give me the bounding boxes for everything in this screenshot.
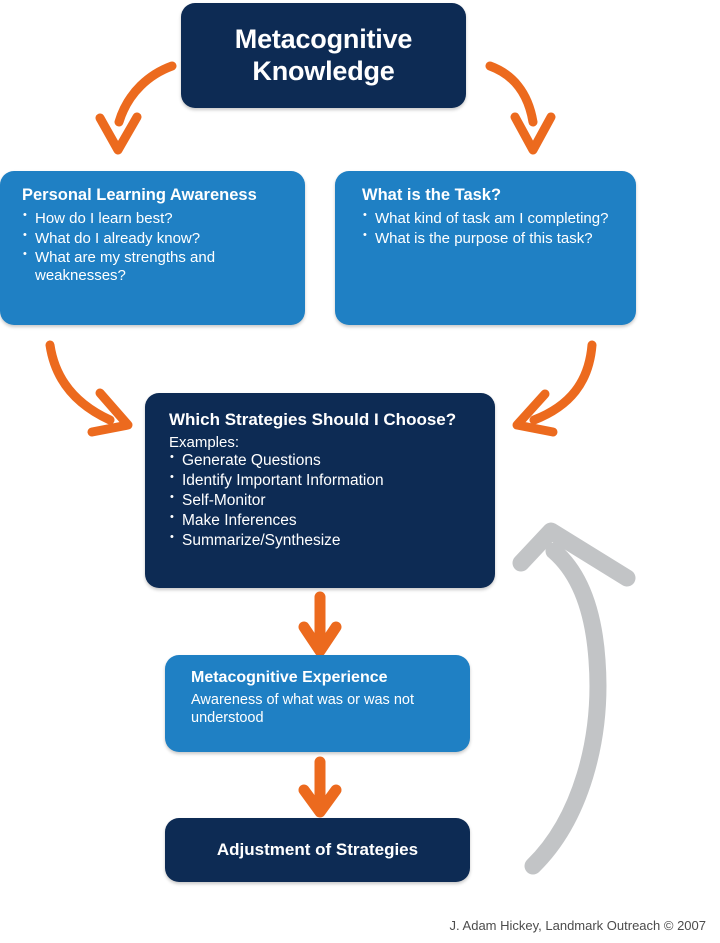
node-metacognitive-knowledge-title: Metacognitive Knowledge (181, 24, 466, 88)
node-metacognitive-experience: Metacognitive Experience Awareness of wh… (165, 655, 470, 752)
arrow-title-to-personal-icon (100, 66, 172, 150)
list-item: Generate Questions (169, 452, 481, 471)
node-metacognitive-experience-subtitle: Awareness of what was or was not underst… (191, 692, 454, 727)
metacognitive-knowledge-diagram: Metacognitive Knowledge Personal Learnin… (0, 0, 720, 943)
node-which-strategies-should-i-choose: Which Strategies Should I Choose? Exampl… (145, 393, 495, 588)
node-what-is-the-task-title: What is the Task? (362, 186, 620, 205)
list-item: How do I learn best? (22, 210, 289, 228)
arrow-title-to-task-icon (490, 66, 551, 150)
list-item: Identify Important Information (169, 472, 481, 491)
node-adjustment-of-strategies-title: Adjustment of Strategies (217, 840, 418, 860)
node-metacognitive-experience-title: Metacognitive Experience (191, 669, 454, 688)
arrow-task-to-strategies-icon (517, 345, 592, 432)
list-item: Self-Monitor (169, 492, 481, 511)
arrow-personal-to-strategies-icon (50, 345, 128, 432)
personal-learning-awareness-bullets: How do I learn best? What do I already k… (22, 210, 289, 285)
list-item: What is the purpose of this task? (362, 230, 620, 248)
list-item: Make Inferences (169, 512, 481, 531)
node-personal-learning-awareness: Personal Learning Awareness How do I lea… (0, 171, 305, 325)
node-personal-learning-awareness-title: Personal Learning Awareness (22, 186, 289, 205)
footer-credit: J. Adam Hickey, Landmark Outreach © 2007 (450, 918, 706, 933)
node-what-is-the-task: What is the Task? What kind of task am I… (335, 171, 636, 325)
strategies-bullets: Generate Questions Identify Important In… (169, 452, 481, 551)
node-which-strategies-title: Which Strategies Should I Choose? (169, 410, 481, 430)
list-item: What kind of task am I completing? (362, 210, 620, 228)
list-item: What do I already know? (22, 230, 289, 248)
node-metacognitive-knowledge: Metacognitive Knowledge (181, 3, 466, 108)
what-is-the-task-bullets: What kind of task am I completing? What … (362, 210, 620, 248)
list-item: Summarize/Synthesize (169, 532, 481, 551)
node-adjustment-of-strategies: Adjustment of Strategies (165, 818, 470, 882)
arrow-experience-to-adjustment-icon (304, 762, 336, 812)
arrow-strategies-to-experience-icon (304, 597, 336, 651)
strategies-examples-label: Examples: (169, 434, 481, 451)
arrow-adjustment-to-strategies-feedback-icon (521, 531, 627, 866)
list-item: What are my strengths and weaknesses? (22, 249, 289, 286)
